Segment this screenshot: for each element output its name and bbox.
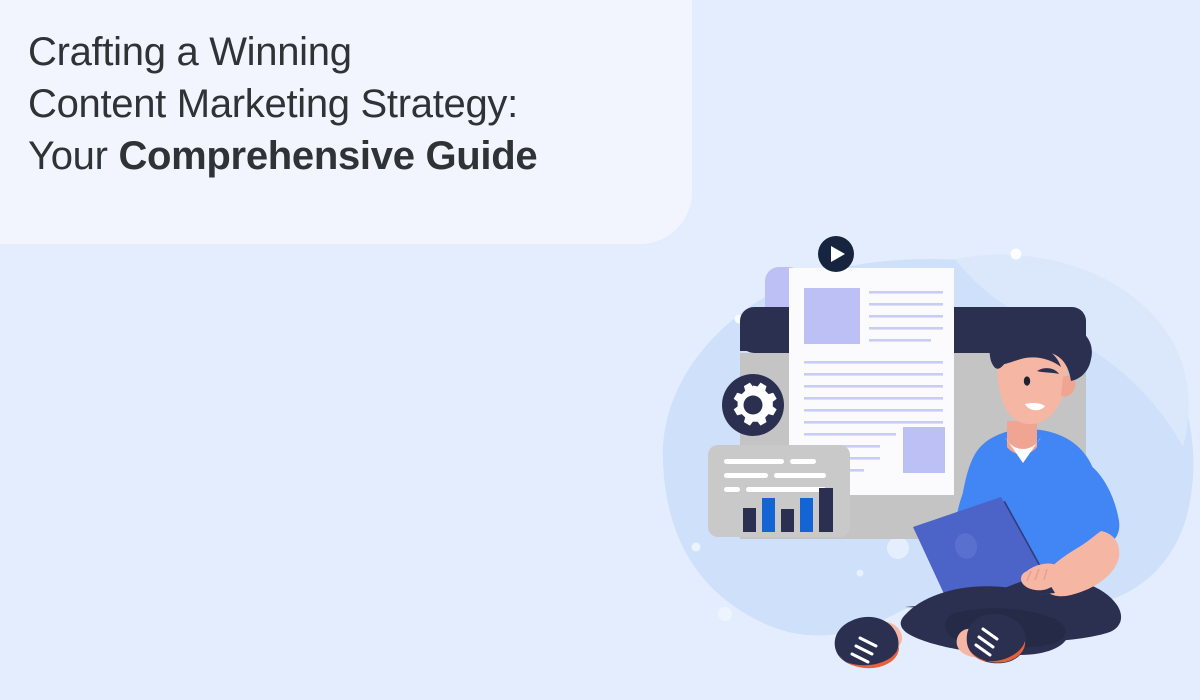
gear-icon bbox=[722, 374, 784, 436]
shoe-right bbox=[967, 614, 1026, 663]
headline-line-3-plain: Your bbox=[28, 134, 118, 178]
analytics-card bbox=[708, 445, 850, 537]
poster-canvas: Crafting a WinningContent Marketing Stra… bbox=[0, 0, 1200, 700]
headline-emphasis: Comprehensive Guide bbox=[118, 134, 537, 178]
eye bbox=[1024, 376, 1030, 385]
title-card: Crafting a WinningContent Marketing Stra… bbox=[0, 0, 692, 244]
headline-line-2: Content Marketing Strategy: bbox=[28, 82, 518, 126]
headline-line-1: Crafting a Winning bbox=[28, 30, 352, 74]
page-title: Crafting a WinningContent Marketing Stra… bbox=[28, 26, 668, 182]
play-button-icon[interactable] bbox=[818, 236, 854, 272]
hero-illustration bbox=[655, 215, 1200, 700]
